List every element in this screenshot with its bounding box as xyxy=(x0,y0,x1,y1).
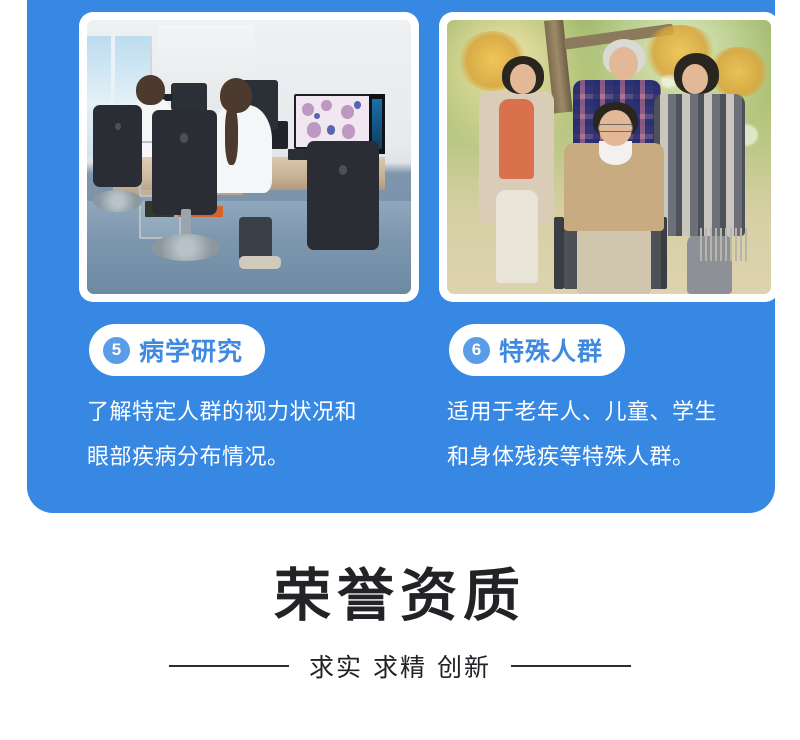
pathology-slide-image xyxy=(296,96,370,147)
honor-section: 荣誉资质 求实 求精 创新 xyxy=(0,560,800,684)
photo-frame-seniors xyxy=(447,20,771,294)
senior-woman-left-top xyxy=(499,99,535,178)
honor-rule-left xyxy=(169,665,289,667)
technician-b-head xyxy=(220,78,252,114)
senior-woman-right-shawl xyxy=(654,94,745,236)
feature-number-5: 5 xyxy=(103,337,130,364)
technician-b-coat xyxy=(210,105,272,193)
office-chair-front xyxy=(307,141,378,251)
photo-frame-pathology xyxy=(87,20,411,294)
honor-subtitle-row: 求实 求精 创新 xyxy=(0,648,800,684)
senior-woman-left-head xyxy=(510,64,536,94)
wheelchair-frame-left xyxy=(554,217,564,288)
feature-badge-5: 5 病学研究 xyxy=(89,324,265,376)
technician-a-head xyxy=(136,75,165,105)
chair-base-rear xyxy=(93,190,142,212)
senior-woman-right-head xyxy=(682,64,708,94)
office-chair-mid xyxy=(152,110,217,214)
honor-subtitle: 求实 求精 创新 xyxy=(309,648,491,684)
feature-title-6: 特殊人群 xyxy=(499,332,603,368)
technician-b-legs xyxy=(239,217,271,261)
chair-knob xyxy=(180,133,188,142)
shawl-fringe xyxy=(700,228,749,261)
office-chair-rear xyxy=(93,105,142,187)
feature-description-5: 了解特定人群的视力状况和 眼部疾病分布情况。 xyxy=(87,390,427,480)
technician-b-shoe xyxy=(239,256,281,270)
feature-number-6: 6 xyxy=(463,337,490,364)
honor-title: 荣誉资质 xyxy=(0,560,800,632)
chair-knob xyxy=(339,165,348,175)
glasses-icon xyxy=(598,124,634,132)
honor-rule-right xyxy=(511,665,631,667)
technician-b-ponytail xyxy=(225,105,238,165)
chair-base-mid xyxy=(152,234,220,261)
photo-card-pathology xyxy=(79,12,419,302)
chair-knob xyxy=(115,123,121,130)
seniors-photo xyxy=(447,20,771,294)
senior-man-plaid-head xyxy=(609,47,638,80)
senior-woman-left-trousers xyxy=(496,190,538,283)
lab-photo xyxy=(87,20,411,294)
photo-card-seniors xyxy=(439,12,779,302)
feature-title-5: 病学研究 xyxy=(139,332,243,368)
feature-description-6: 适用于老年人、儿童、学生 和身体残疾等特殊人群。 xyxy=(447,390,797,480)
wheelchair-user-legs xyxy=(577,223,652,294)
feature-panel: 5 病学研究 6 特殊人群 了解特定人群的视力状况和 眼部疾病分布情况。 适用于… xyxy=(27,0,775,513)
page-root: 5 病学研究 6 特殊人群 了解特定人群的视力状况和 眼部疾病分布情况。 适用于… xyxy=(0,0,800,740)
feature-badge-6: 6 特殊人群 xyxy=(449,324,625,376)
